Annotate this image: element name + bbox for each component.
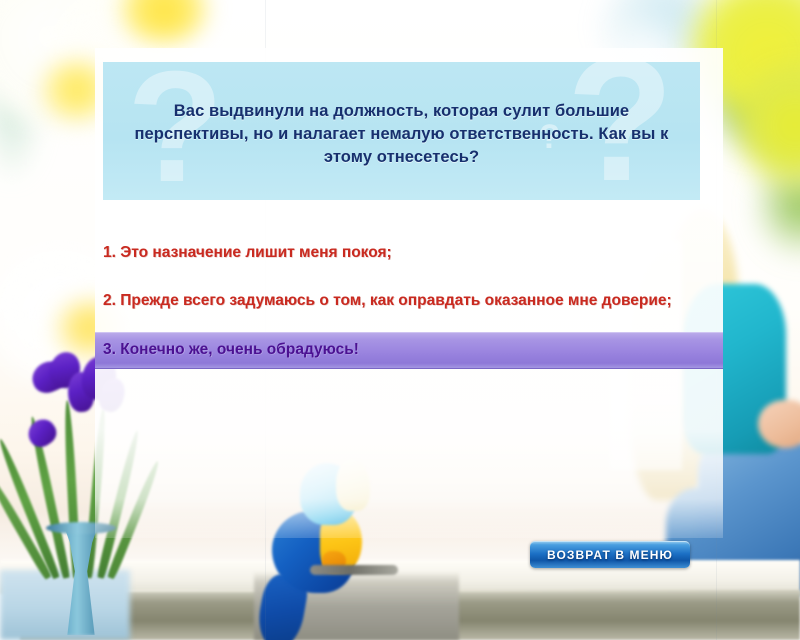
slide-stage: ? ? ? Вас выдвинули на должность, котора… bbox=[0, 0, 800, 640]
iris-flower bbox=[23, 414, 61, 451]
return-to-menu-button[interactable]: ВОЗВРАТ В МЕНЮ bbox=[530, 541, 690, 568]
return-to-menu-label: ВОЗВРАТ В МЕНЮ bbox=[547, 548, 673, 562]
answer-option-3-selected[interactable]: 3. Конечно же, очень обрадуюсь! bbox=[95, 332, 723, 369]
question-text: Вас выдвинули на должность, которая сули… bbox=[103, 100, 700, 168]
answer-option-1[interactable]: 1. Это назначение лишит меня покоя; bbox=[95, 240, 723, 266]
answer-option-2[interactable]: 2. Прежде всего задумаюсь о том, как опр… bbox=[95, 288, 723, 314]
answer-list: 1. Это назначение лишит меня покоя; 2. П… bbox=[95, 228, 723, 369]
question-box: ? ? ? Вас выдвинули на должность, котора… bbox=[103, 62, 700, 200]
parrot-perch bbox=[310, 565, 398, 575]
